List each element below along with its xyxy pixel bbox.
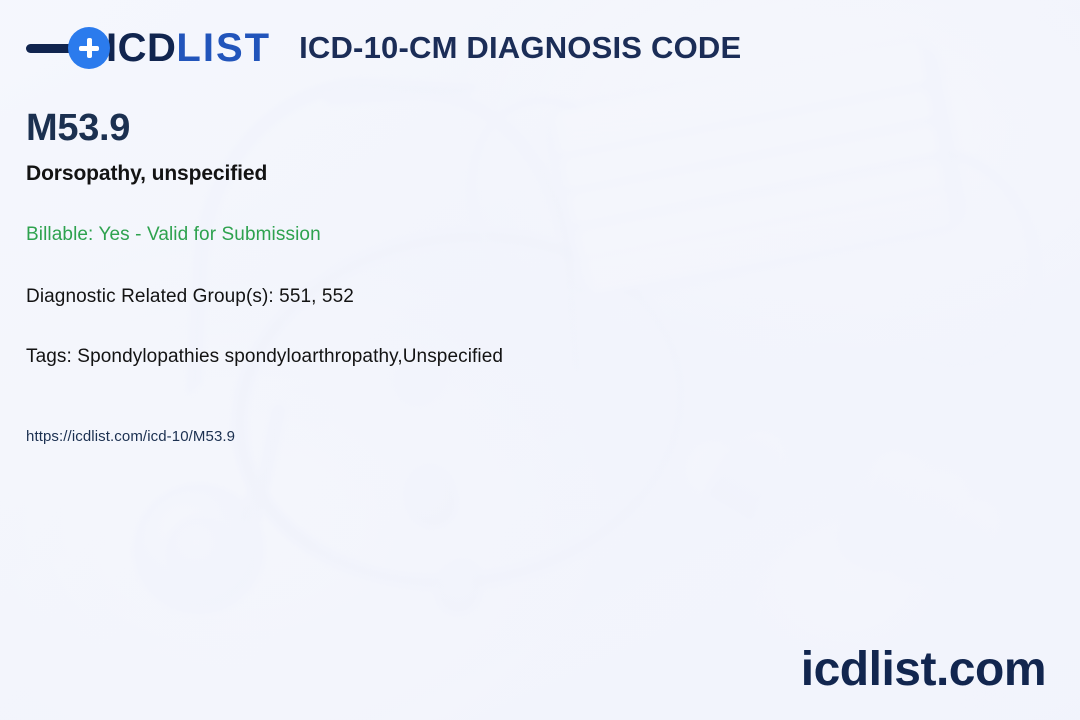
hand-finger-icon: [913, 489, 1013, 600]
hand-finger-icon: [874, 463, 979, 587]
horizontal-dash-icon: [26, 44, 74, 53]
diagnostic-related-groups: Diagnostic Related Group(s): 551, 552: [26, 286, 986, 308]
page-header: ICDLIST ICD-10-CM DIAGNOSIS CODE: [0, 0, 1080, 96]
logo-word-list: LIST: [176, 26, 271, 70]
plus-circle-icon: [68, 27, 110, 69]
footer-brand: icdlist.com: [801, 646, 1046, 694]
logo-word-icd: ICD: [106, 26, 176, 70]
source-url[interactable]: https://icdlist.com/icd-10/M53.9: [26, 428, 986, 445]
stethoscope-chestpiece-stub-icon: [235, 470, 271, 527]
stethoscope-eartip-icon: [396, 459, 465, 534]
stethoscope-eartip-icon: [430, 555, 488, 619]
diagnosis-code: M53.9: [26, 108, 986, 150]
page-title: ICD-10-CM DIAGNOSIS CODE: [299, 30, 741, 66]
logo-wordmark: ICDLIST: [106, 28, 271, 68]
stethoscope-chestpiece-icon: [140, 490, 258, 608]
tags-line: Tags: Spondylopathies spondyloarthropath…: [26, 346, 986, 368]
hand-finger-icon: [831, 444, 938, 577]
icdlist-logo[interactable]: ICDLIST: [26, 27, 271, 69]
code-details: M53.9 Dorsopathy, unspecified Billable: …: [26, 108, 986, 445]
diagnosis-description: Dorsopathy, unspecified: [26, 162, 986, 186]
paper-heart-icon: [679, 427, 810, 558]
billable-status: Billable: Yes - Valid for Submission: [26, 224, 986, 246]
icd-code-card: ICDLIST ICD-10-CM DIAGNOSIS CODE M53.9 D…: [0, 0, 1080, 720]
